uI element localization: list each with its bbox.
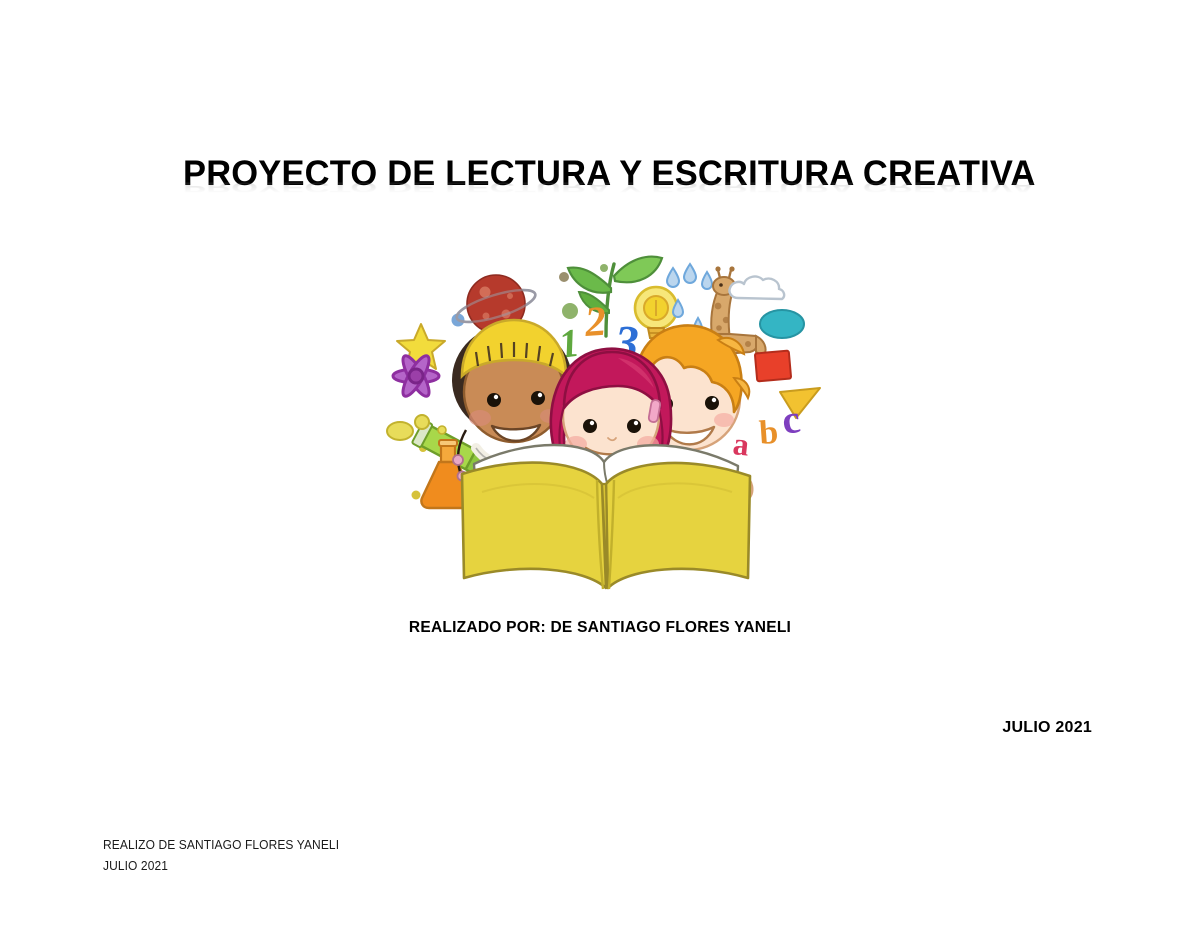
open-book [462,445,750,589]
page-title: PROYECTO DE LECTURA Y ESCRITURA CREATIVA [183,153,1040,195]
letter-group: c b a [731,396,803,463]
number-two: 2 [582,299,607,346]
cloud-icon [729,277,784,299]
document-page: PROYECTO DE LECTURA Y ESCRITURA CREATIVA… [0,0,1200,927]
children-reading-illustration: 1 2 3 c b a [378,248,830,596]
letter-b: b [758,414,779,452]
author-line: REALIZADO POR: DE SANTIAGO FLORES YANELI [18,619,1182,637]
footer-line-author: REALIZO DE SANTIAGO FLORES YANELI [103,835,339,856]
date-line: JULIO 2021 [0,719,1092,737]
title-block: PROYECTO DE LECTURA Y ESCRITURA CREATIVA… [183,153,1053,223]
ellipse-icon [760,310,804,338]
letter-a: a [731,425,751,462]
page-footer: REALIZO DE SANTIAGO FLORES YANELI JULIO … [103,835,339,877]
footer-line-date: JULIO 2021 [103,856,339,877]
square-icon [755,351,791,382]
